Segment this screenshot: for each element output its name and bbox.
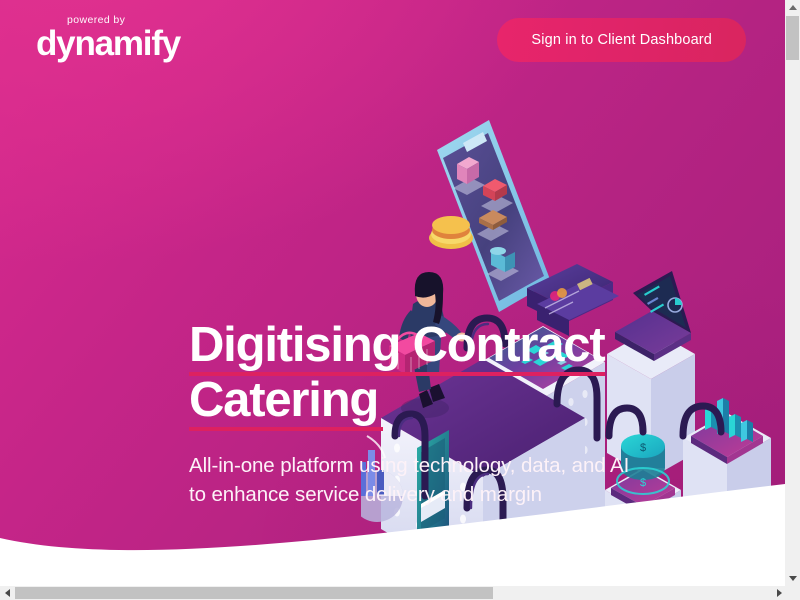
scroll-left-button[interactable] xyxy=(0,586,14,600)
horizontal-scrollbar-thumb[interactable] xyxy=(15,587,493,599)
brand-name: dynamify xyxy=(36,24,180,64)
svg-text:$: $ xyxy=(640,442,646,454)
phone-shelf-items xyxy=(429,157,519,281)
chevron-down-icon xyxy=(789,576,797,581)
scroll-up-button[interactable] xyxy=(785,0,800,15)
hero-section: $ $ xyxy=(0,0,785,586)
scrollbar-corner xyxy=(786,586,800,600)
woman-with-basket-icon xyxy=(389,272,468,418)
page-title: Digitising Contract Catering xyxy=(189,318,619,428)
chevron-left-icon xyxy=(5,589,10,597)
page-content: $ $ xyxy=(0,0,785,586)
brand-logo[interactable]: powered by dynamify xyxy=(36,14,266,66)
bar-chart-icon xyxy=(705,398,753,442)
headline-underline-secondary xyxy=(189,427,383,431)
site-header: powered by dynamify Sign in to Client Da… xyxy=(0,0,785,78)
hero-copy: Digitising Contract Catering All-in-one … xyxy=(189,318,619,428)
browser-viewport: $ $ xyxy=(0,0,800,600)
hero-bottom-wave xyxy=(0,476,785,586)
headline-line-2: Catering xyxy=(189,373,619,428)
vertical-scrollbar[interactable] xyxy=(785,0,800,586)
pink-basket-icon xyxy=(389,333,435,374)
vertical-scrollbar-thumb[interactable] xyxy=(786,16,799,60)
laptop-dashboard-icon xyxy=(615,271,691,361)
qr-code-icon xyxy=(489,327,597,389)
headline-underline-primary xyxy=(189,372,605,376)
pillar-laptop xyxy=(607,329,695,478)
sign-in-button[interactable]: Sign in to Client Dashboard xyxy=(497,18,746,62)
headline-line-1: Digitising Contract xyxy=(189,318,619,373)
scroll-right-button[interactable] xyxy=(772,586,786,600)
scroll-down-button[interactable] xyxy=(785,571,800,586)
smartphone-storefront-icon xyxy=(429,120,551,312)
chevron-up-icon xyxy=(789,5,797,10)
chevron-right-icon xyxy=(777,589,782,597)
credit-cards-icon xyxy=(527,264,619,336)
